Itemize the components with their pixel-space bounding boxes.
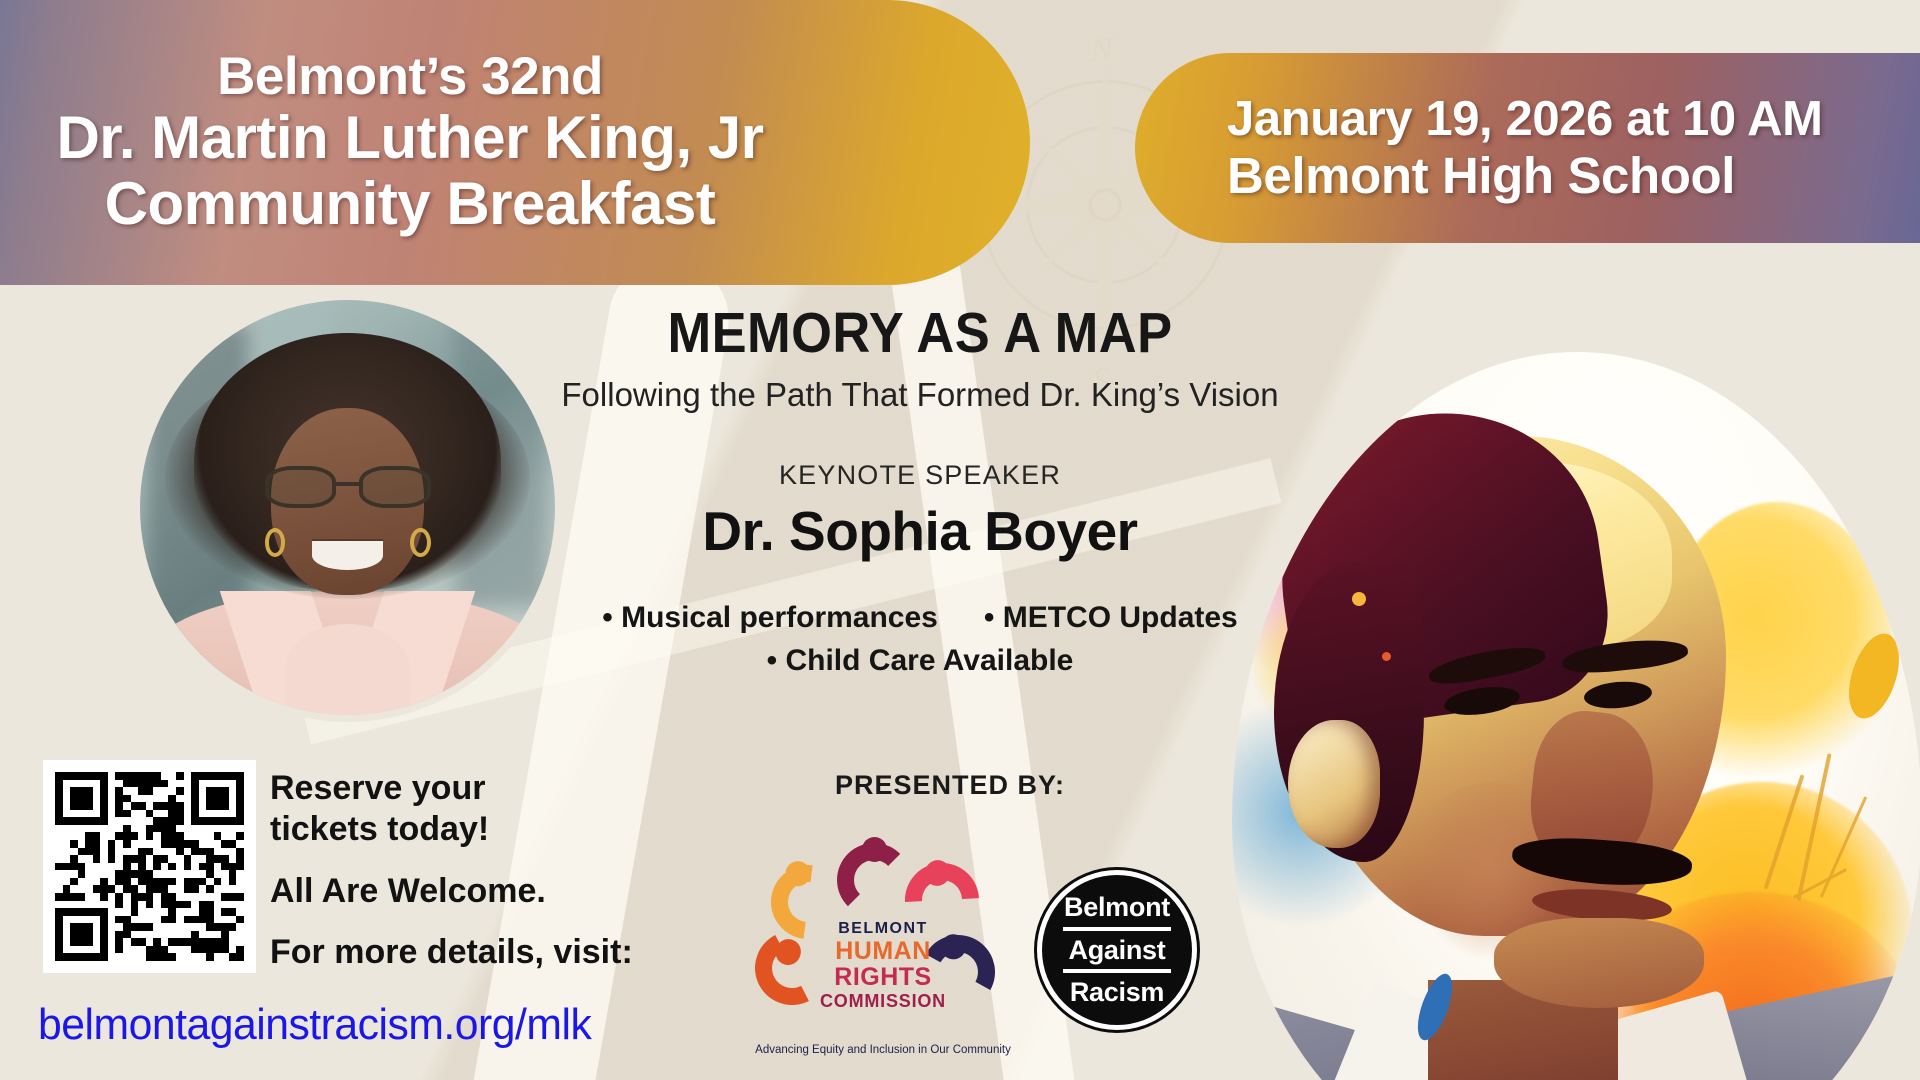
qr-code-icon[interactable]	[43, 760, 256, 973]
page-title: MEMORY AS A MAP	[552, 300, 1288, 366]
keynote-speaker-label: KEYNOTE SPEAKER	[520, 460, 1320, 491]
hrc-logo-belmont: BELMONT	[763, 921, 1003, 937]
banner-line-2: Dr. Martin Luther King, Jr	[56, 106, 763, 171]
mlk-breakfast-poster: N S E W Belmont’s 32nd Dr. Martin Luther…	[0, 0, 1920, 1080]
reservation-text-block: Reserve your tickets today! All Are Welc…	[270, 768, 700, 974]
bar-logo-line-3: Racism	[1070, 978, 1164, 1006]
mlk-portrait-illustration	[1232, 352, 1920, 1080]
compass-north-label: N	[1090, 32, 1113, 70]
keynote-speaker-name: Dr. Sophia Boyer	[520, 499, 1320, 563]
presented-by-block: PRESENTED BY:	[700, 770, 1200, 801]
feature-item: METCO Updates	[984, 597, 1238, 640]
event-date-time: January 19, 2026 at 10 AM	[1227, 92, 1823, 147]
reserve-line-1: Reserve your	[270, 768, 700, 809]
bar-logo-line-2: Against	[1069, 936, 1166, 964]
belmont-against-racism-logo: Belmont Against Racism	[1037, 870, 1197, 1030]
sponsor-logo-row: BELMONT HUMAN RIGHTS COMMISSION Advancin…	[720, 835, 1240, 1065]
presented-by-label: PRESENTED BY:	[700, 770, 1200, 801]
main-content-column: MEMORY AS A MAP Following the Path That …	[520, 300, 1320, 682]
event-location: Belmont High School	[1227, 147, 1735, 204]
page-subtitle: Following the Path That Formed Dr. King’…	[520, 376, 1320, 414]
reserve-line-2: tickets today!	[270, 809, 700, 850]
banner-line-1: Belmont’s 32nd	[217, 48, 603, 105]
website-url-link[interactable]: belmontagainstracism.org/mlk	[38, 1000, 591, 1050]
speaker-portrait-photo	[140, 300, 555, 715]
belmont-human-rights-commission-logo: BELMONT HUMAN RIGHTS COMMISSION Advancin…	[763, 843, 1003, 1058]
feature-item: Musical performances	[602, 597, 938, 640]
event-datetime-banner: January 19, 2026 at 10 AM Belmont High S…	[1135, 53, 1920, 243]
hrc-logo-human: HUMAN	[763, 939, 1003, 964]
feature-item: Child Care Available	[767, 644, 1074, 677]
bar-logo-line-1: Belmont	[1064, 893, 1170, 921]
event-title-banner: Belmont’s 32nd Dr. Martin Luther King, J…	[0, 0, 1030, 285]
event-features-list: Musical performances METCO Updates Child…	[520, 597, 1320, 682]
hrc-logo-commission: COMMISSION	[763, 992, 1003, 1010]
reserve-line-3: All Are Welcome.	[270, 871, 700, 912]
banner-line-3: Community Breakfast	[105, 171, 716, 237]
hrc-logo-tagline: Advancing Equity and Inclusion in Our Co…	[751, 1044, 1015, 1056]
hrc-logo-rights: RIGHTS	[763, 965, 1003, 990]
reserve-line-4: For more details, visit:	[270, 932, 700, 973]
